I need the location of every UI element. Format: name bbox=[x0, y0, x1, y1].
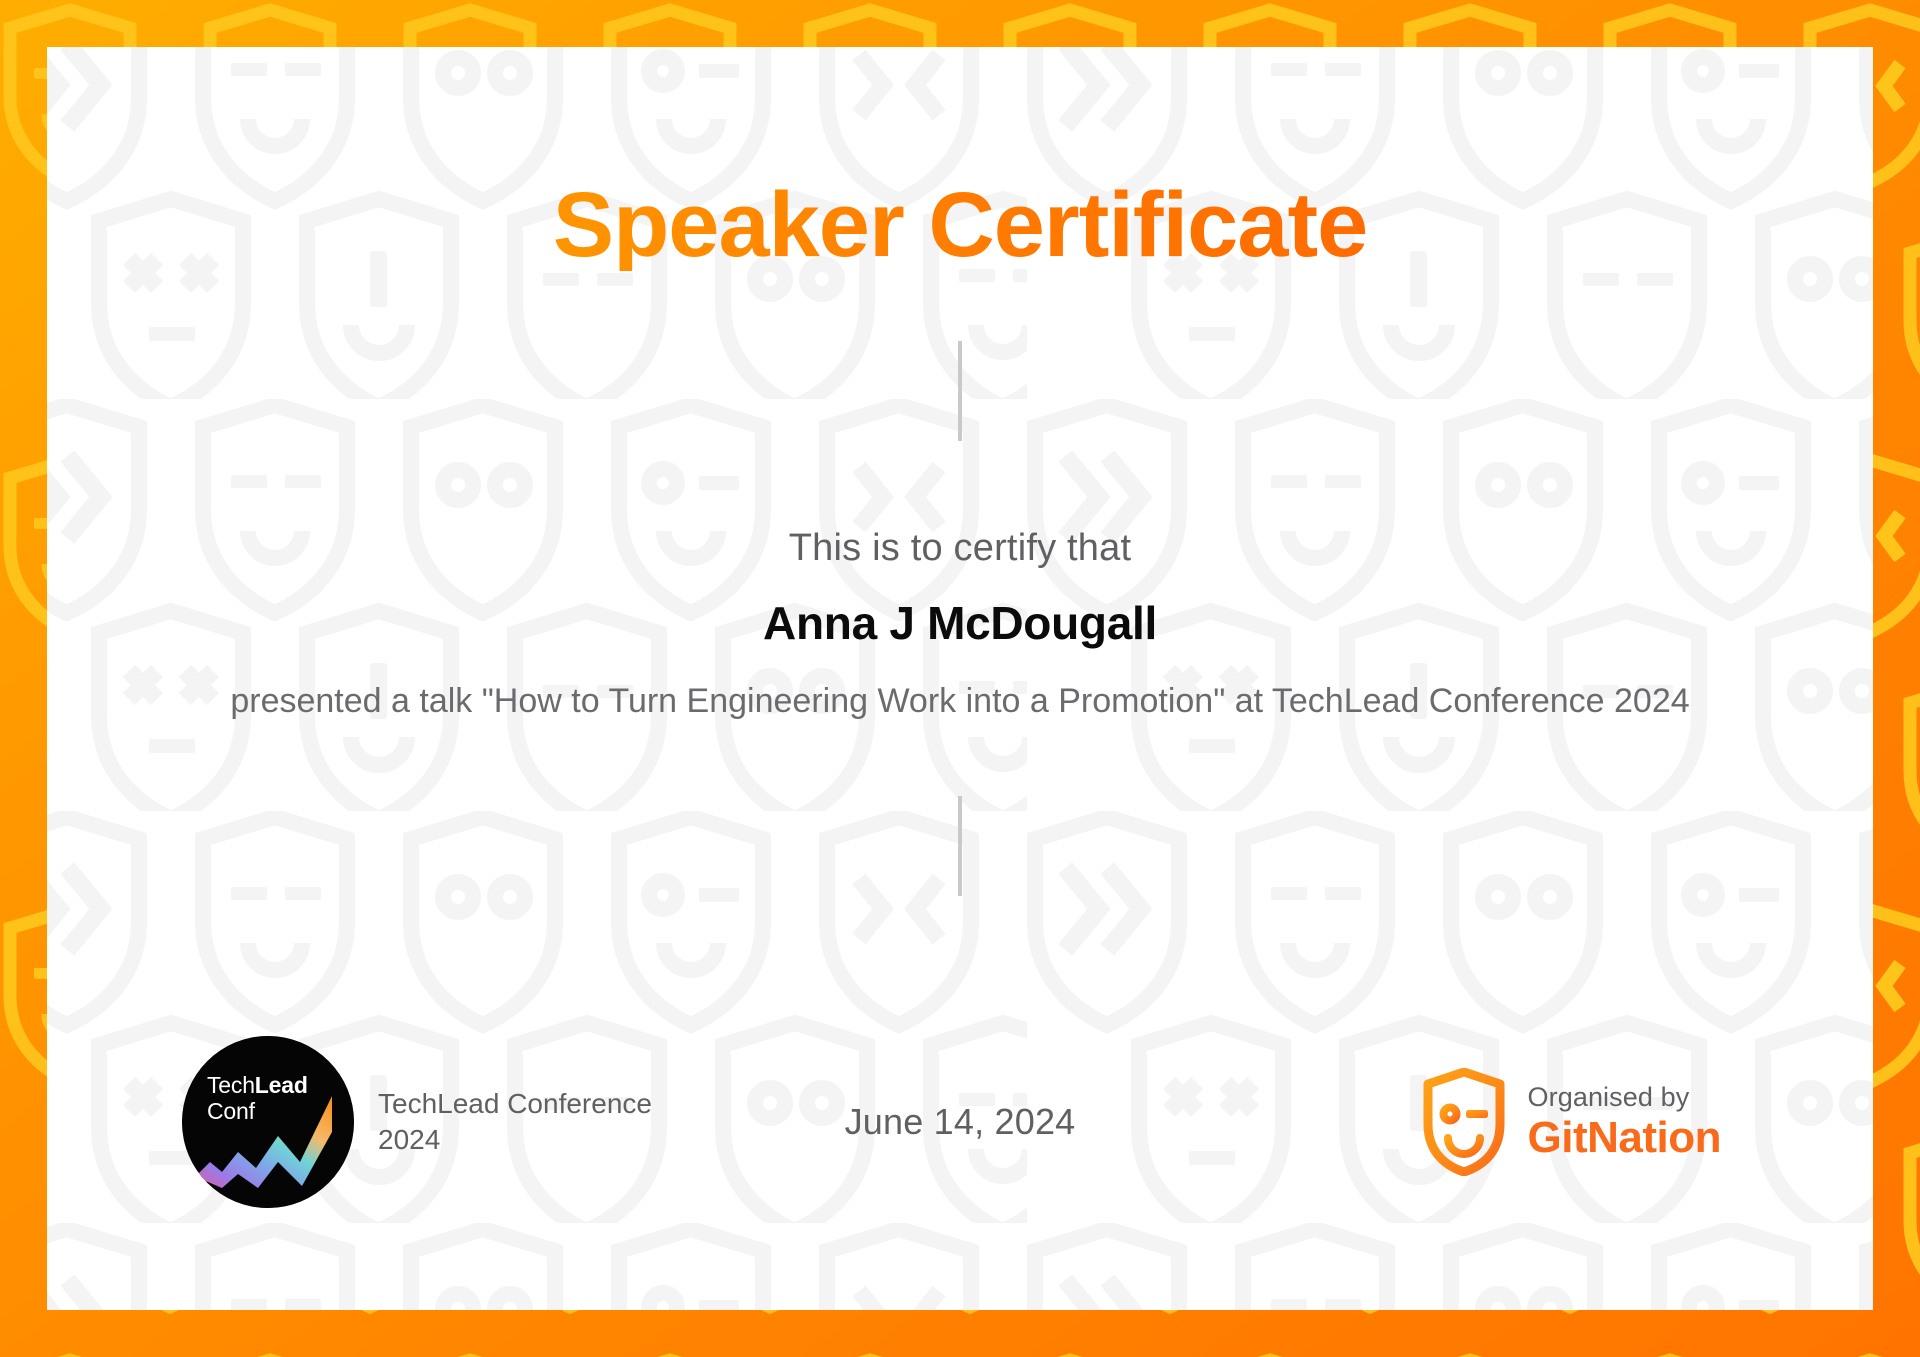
logo-lead-word: Lead bbox=[255, 1072, 308, 1098]
divider-top bbox=[958, 341, 962, 441]
issue-date: June 14, 2024 bbox=[845, 1101, 1076, 1143]
logo-tech-word: Tech bbox=[207, 1072, 255, 1098]
organiser-text: Organised by GitNation bbox=[1528, 1082, 1721, 1162]
organised-by-label: Organised by bbox=[1528, 1082, 1721, 1113]
conference-branding: TechLead Conf TechLead Conference 2024 bbox=[182, 1036, 658, 1208]
logo-conf-word: Conf bbox=[207, 1098, 308, 1124]
gitnation-shield-wink-face-icon bbox=[1422, 1068, 1506, 1176]
certificate-footer: TechLead Conf TechLead Conference 2024 J… bbox=[47, 1022, 1873, 1222]
techlead-conf-logo-icon: TechLead Conf bbox=[182, 1036, 354, 1208]
page-title: Speaker Certificate bbox=[553, 179, 1368, 271]
certificate: Speaker Certificate This is to certify t… bbox=[0, 0, 1920, 1357]
certificate-card: Speaker Certificate This is to certify t… bbox=[47, 47, 1873, 1310]
techlead-conf-logo-text: TechLead Conf bbox=[207, 1072, 308, 1124]
certify-line: This is to certify that bbox=[789, 527, 1131, 570]
organiser-branding: Organised by GitNation bbox=[1422, 1068, 1721, 1176]
organiser-name: GitNation bbox=[1528, 1113, 1721, 1162]
recipient-name: Anna J McDougall bbox=[763, 596, 1157, 650]
divider-bottom bbox=[958, 796, 962, 896]
talk-description: presented a talk "How to Turn Engineerin… bbox=[210, 680, 1710, 724]
conference-name-label: TechLead Conference 2024 bbox=[378, 1086, 658, 1159]
